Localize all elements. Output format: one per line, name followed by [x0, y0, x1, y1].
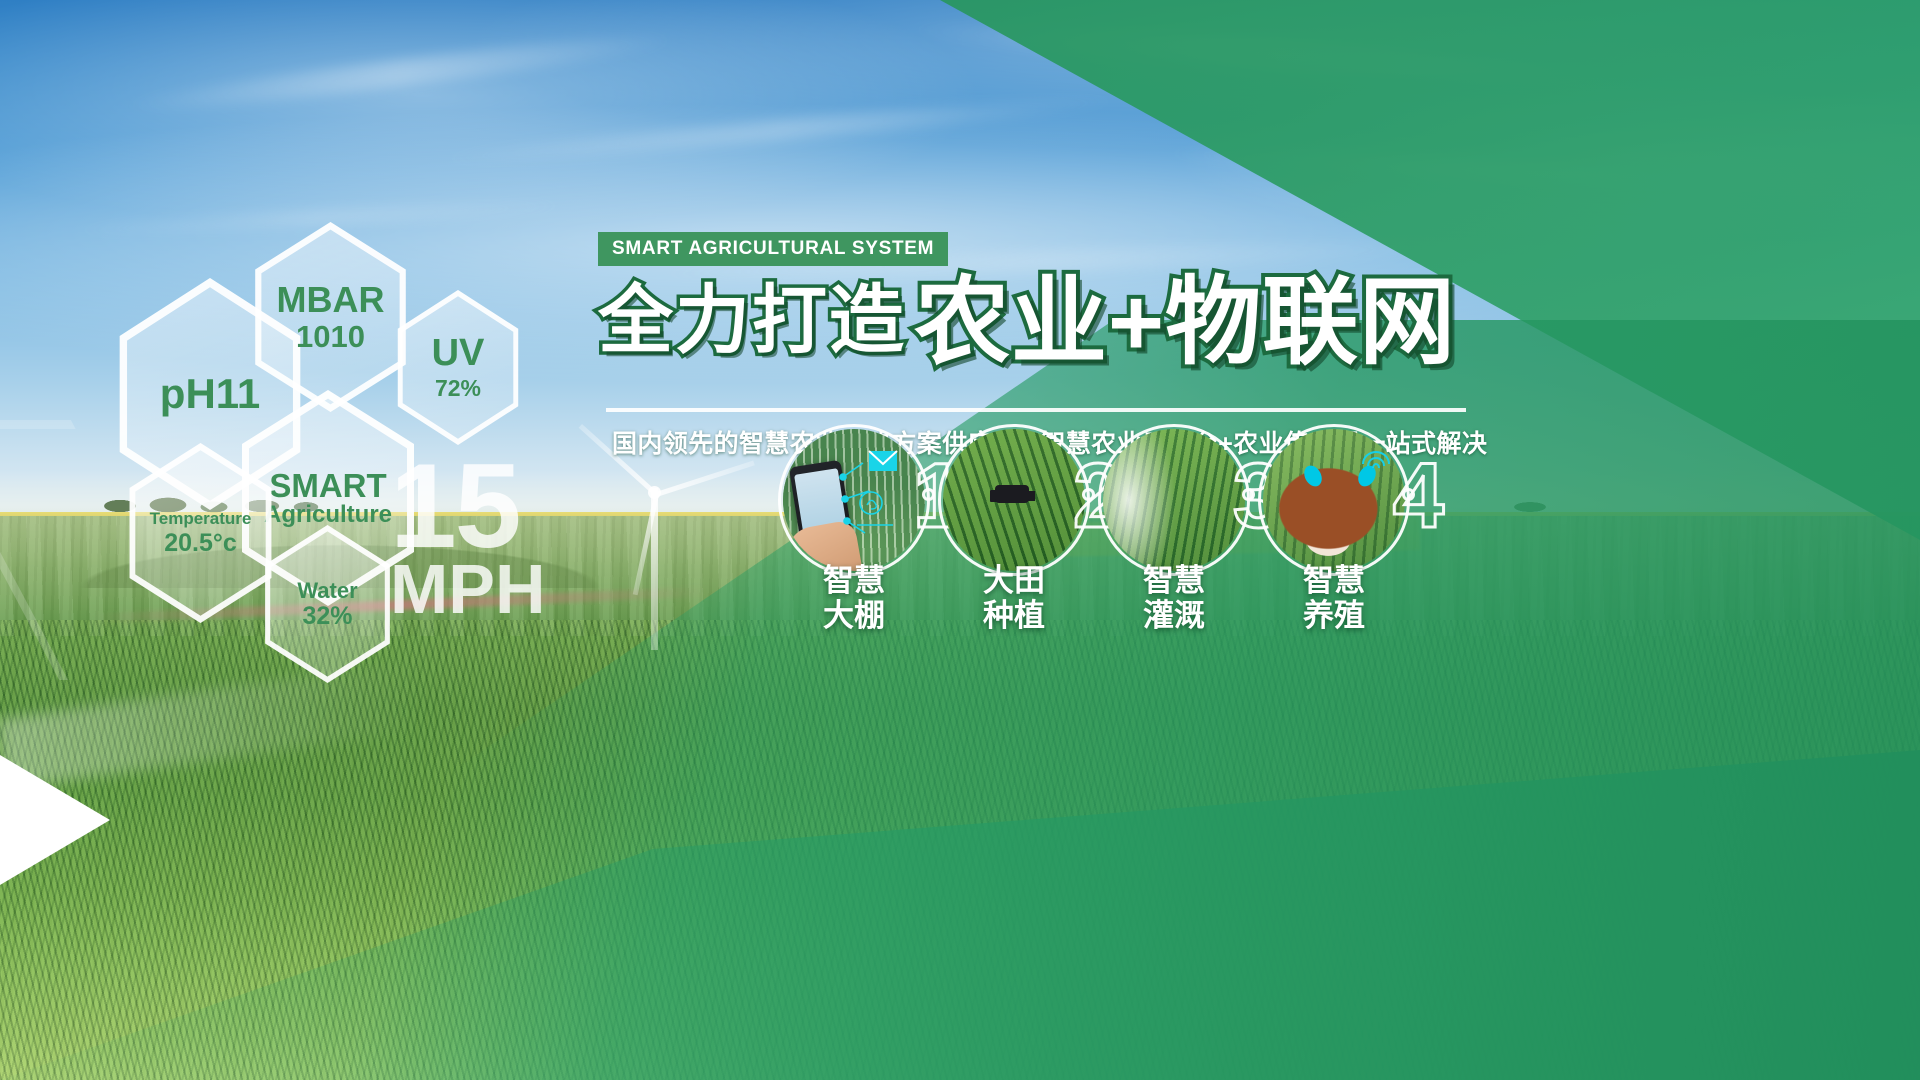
turbine-hub	[648, 486, 661, 499]
feature-number: 4	[1393, 450, 1444, 542]
sensor-value: 32%	[302, 603, 352, 629]
sensor-title: SMART	[269, 469, 386, 504]
feature-item-greenhouse[interactable]: 1 智慧 大棚	[778, 424, 930, 576]
feature-ring	[778, 424, 930, 576]
feature-label: 大田 种植	[924, 564, 1104, 633]
headline-divider	[606, 408, 1466, 412]
page-title: 全力打造 农业+物联网	[598, 258, 1478, 368]
feature-item-livestock[interactable]: 4 智慧 养殖	[1258, 424, 1410, 576]
feature-ring	[1258, 424, 1410, 576]
feature-label: 智慧 灌溉	[1084, 564, 1264, 633]
feature-connector-dot	[922, 488, 935, 501]
sensor-value: 1010	[296, 321, 365, 354]
sensor-title: pH11	[160, 372, 260, 416]
feature-list: 1 智慧 大棚 2 大田 种植 3 智慧 灌溉	[770, 418, 1410, 643]
sensor-title: Temperature	[150, 510, 252, 528]
feature-item-field-planting[interactable]: 2 大田 种植	[938, 424, 1090, 576]
sensor-value: Agriculture	[264, 502, 392, 527]
headline-primary: 全力打造	[598, 259, 906, 368]
system-tag-label: SMART AGRICULTURAL SYSTEM	[612, 238, 934, 260]
sensor-title: MBAR	[277, 281, 385, 319]
headline-accent: 农业+物联网	[914, 277, 1456, 368]
sensor-value: 20.5°c	[164, 530, 237, 556]
feature-item-irrigation[interactable]: 3 智慧 灌溉	[1098, 424, 1250, 576]
smart-agriculture-banner: pH11 MBAR 1010 UV 72% SMART Agriculture …	[0, 0, 1920, 1080]
sensor-title: Water	[297, 579, 357, 602]
sensor-value: 72%	[435, 376, 481, 400]
feature-connector-dot	[1242, 488, 1255, 501]
wind-turbine-icon	[555, 430, 765, 650]
sensor-title: UV	[432, 334, 485, 374]
feature-connector-dot	[1082, 488, 1095, 501]
feature-ring	[938, 424, 1090, 576]
feature-label: 智慧 养殖	[1244, 564, 1424, 633]
feature-connector-dot	[1402, 488, 1415, 501]
turbine-blade	[653, 460, 754, 497]
feature-ring	[1098, 424, 1250, 576]
feature-label: 智慧 大棚	[764, 564, 944, 633]
